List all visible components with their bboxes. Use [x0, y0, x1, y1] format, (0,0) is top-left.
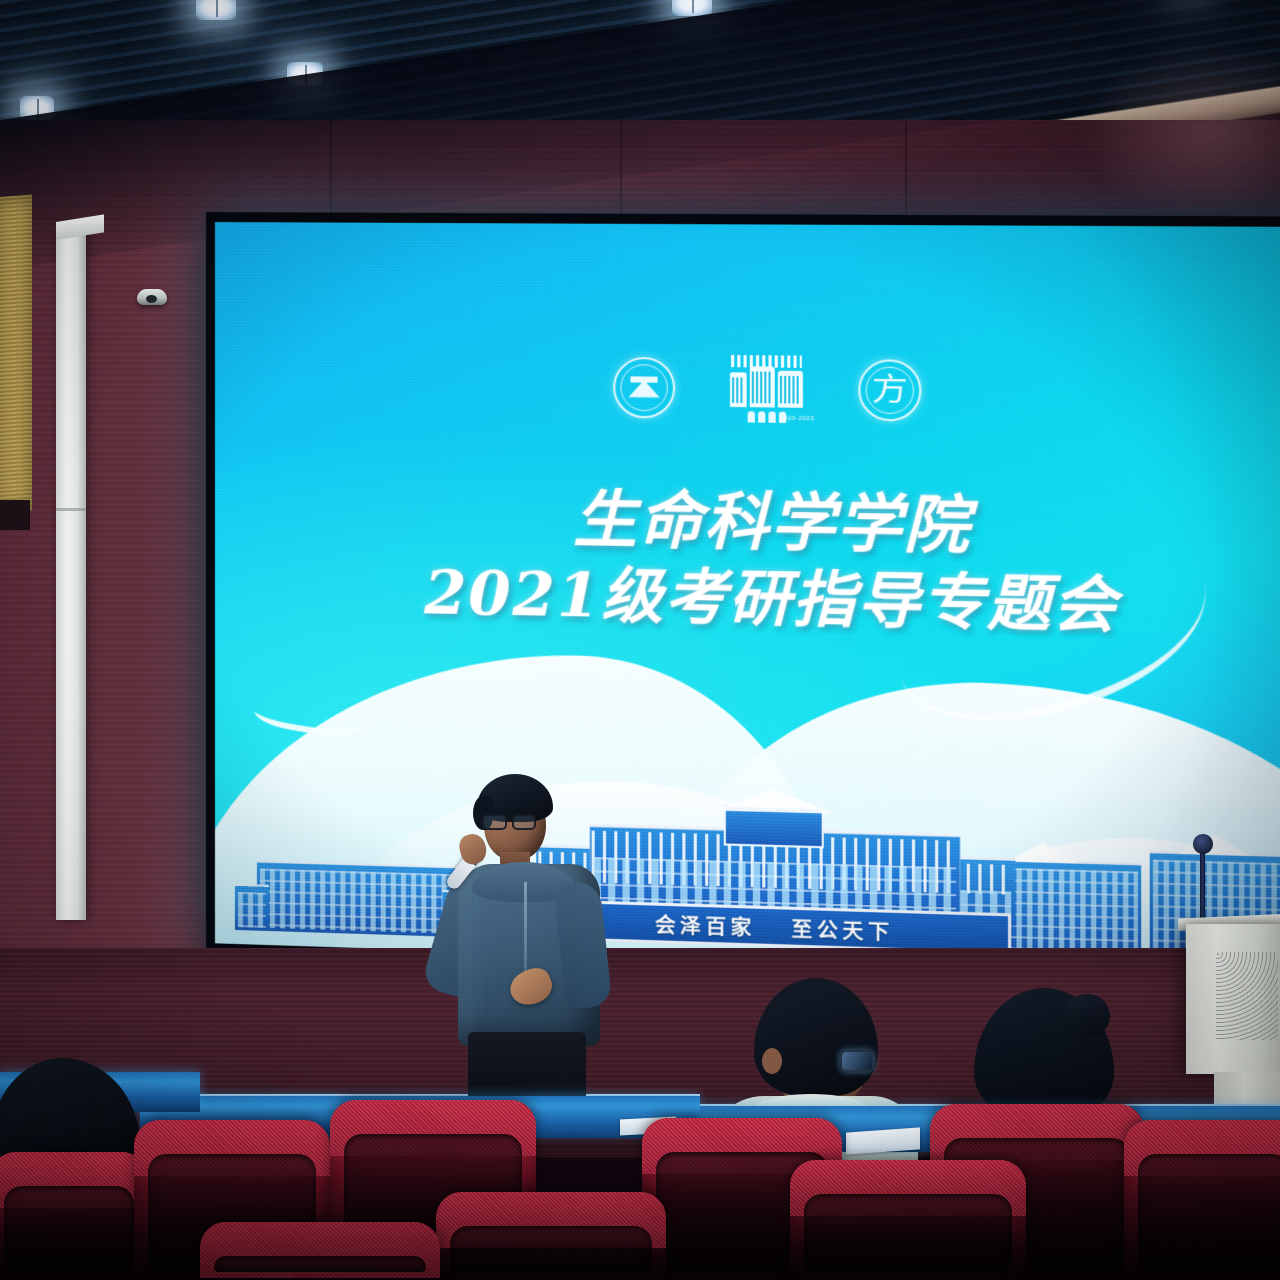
- security-camera-icon: [137, 289, 167, 305]
- audience-right-hair-bun: [1064, 994, 1110, 1038]
- motto-left: 会泽百家: [655, 908, 756, 941]
- presentation-slide[interactable]: 1923-2023 生命科学学院 2021级考研指导专题会: [215, 222, 1280, 980]
- university-seal-left-icon: [613, 357, 675, 419]
- gooseneck-microphone-icon: [1200, 846, 1205, 924]
- slide-title-line-1: 生命科学学院: [215, 477, 1280, 570]
- slide-title: 生命科学学院 2021级考研指导专题会: [215, 477, 1280, 648]
- gold-acoustic-panel-base: [0, 500, 30, 530]
- ceiling-light-icon: [196, 0, 236, 20]
- illustration-building-left-a: [235, 884, 269, 931]
- auditorium-seat-foreground: [200, 1222, 440, 1280]
- column-seam: [56, 508, 86, 511]
- centenary-100-logo-icon: 1923-2023: [721, 355, 813, 423]
- slide-logo-row: 1923-2023: [215, 340, 1280, 440]
- centenary-years: 1923-2023: [780, 416, 815, 423]
- led-screen-frame: 1923-2023 生命科学学院 2021级考研指导专题会: [206, 212, 1280, 989]
- slide-title-line-2: 2021级考研指导专题会: [215, 554, 1280, 647]
- main-building-pediment: [713, 788, 834, 814]
- university-seal-right-icon: [858, 359, 921, 421]
- speaker-eyeglasses-icon: [482, 814, 546, 830]
- motto-right: 至公天下: [791, 912, 893, 945]
- gold-acoustic-panel: [0, 195, 32, 514]
- auditorium-seat-foreground: [790, 1160, 1026, 1280]
- auditorium-seat: [1124, 1120, 1280, 1280]
- illustration-roof-b: [1178, 833, 1251, 856]
- audience-center-ear: [762, 1048, 782, 1074]
- audience-center-hair: [754, 978, 878, 1096]
- wall-glow: [1080, 40, 1280, 220]
- illustration-roof-a: [1007, 841, 1079, 864]
- structural-column: [56, 230, 86, 920]
- illustration-main-building: 会泽百家 至公天下: [590, 789, 961, 951]
- podium-speaker-grille: [1216, 952, 1278, 1040]
- auditorium-seat: [0, 1152, 148, 1280]
- auditorium-seat-foreground: [436, 1192, 666, 1280]
- auditorium-photo: 1923-2023 生命科学学院 2021级考研指导专题会: [0, 0, 1280, 1280]
- audience-center-eyeglasses-icon: [840, 1050, 874, 1072]
- speaker-presenter: [424, 770, 614, 1100]
